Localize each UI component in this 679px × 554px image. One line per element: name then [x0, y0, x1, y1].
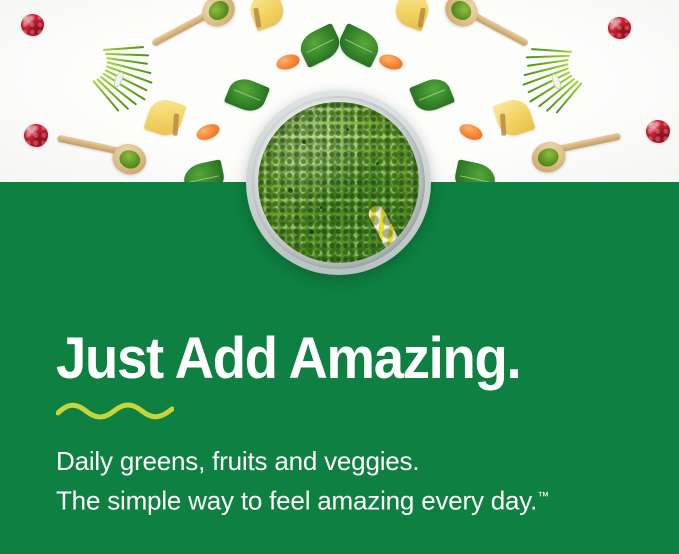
carrot-slice-icon: [457, 121, 484, 143]
spinach-leaf-icon: [452, 159, 498, 182]
spinach-leaf-icon: [181, 159, 227, 182]
green-smoothie-liquid: [258, 102, 419, 263]
pineapple-wedge-icon: [143, 96, 186, 140]
tagline-line-2-text: The simple way to feel amazing every day…: [56, 486, 537, 516]
tagline: Daily greens, fruits and veggies. The si…: [56, 444, 549, 519]
wave-divider-icon: [56, 400, 174, 420]
raspberry-icon: [646, 120, 670, 143]
smoothie-glass: [246, 90, 431, 275]
carrot-slice-icon: [275, 52, 302, 72]
spinach-leaf-icon: [409, 74, 455, 116]
raspberry-icon: [608, 17, 631, 39]
spinach-leaf-icon: [295, 23, 345, 68]
raspberry-icon: [21, 14, 44, 36]
raspberry-icon: [24, 124, 48, 147]
tagline-line-2: The simple way to feel amazing every day…: [56, 479, 549, 519]
page-title: Just Add Amazing.: [56, 329, 520, 389]
product-ad-banner: Just Add Amazing. Daily greens, fruits a…: [0, 0, 679, 554]
carrot-slice-icon: [378, 52, 405, 72]
carrot-slice-icon: [194, 121, 221, 143]
spinach-leaf-icon: [334, 23, 384, 68]
trademark-symbol: ™: [537, 489, 549, 503]
tagline-line-1: Daily greens, fruits and veggies.: [56, 444, 549, 479]
spinach-leaf-icon: [224, 74, 270, 116]
